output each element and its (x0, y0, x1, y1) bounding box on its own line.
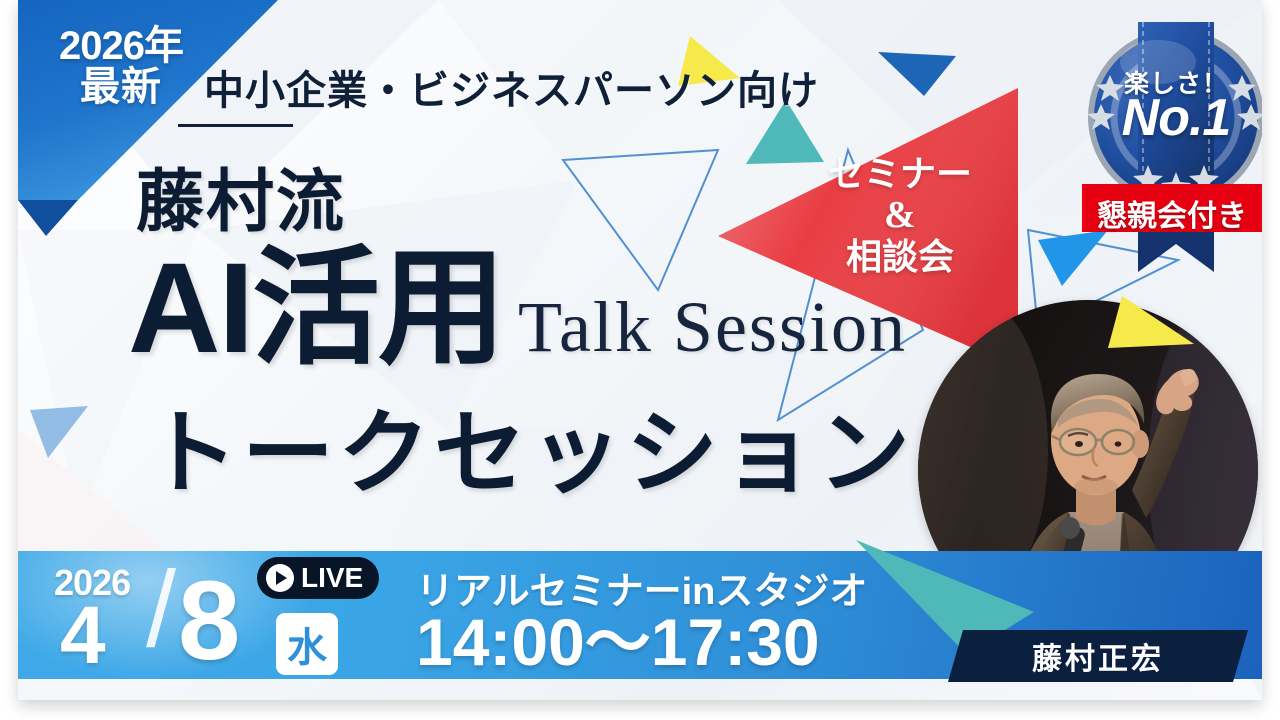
footer-day: 8 (178, 565, 240, 677)
seminar-banner: 2026年 最新 中小企業・ビジネスパーソン向け 藤村流 AI活用 Talk S… (0, 0, 1280, 720)
footer-day-of-week-box: 水 (276, 613, 338, 675)
seminar-line1: セミナー (810, 154, 990, 194)
speaker-nameplate: 藤村正宏 (948, 630, 1248, 682)
seminar-line2: & (810, 194, 990, 237)
live-label: LIVE (301, 562, 363, 594)
footer-month: 4 (60, 595, 106, 677)
footer-day-of-week: 水 (287, 615, 327, 673)
speaker-name: 藤村正宏 (1032, 634, 1164, 678)
corner-ribbon: 2026年 最新 (18, 0, 318, 250)
blue-triangle-left-mid (30, 406, 90, 460)
seminar-line3: 相談会 (810, 237, 990, 277)
headline-japanese: トークセッション (146, 408, 914, 500)
corner-ribbon-line2: 最新 (36, 67, 206, 108)
corner-ribbon-line1: 2026年 (36, 26, 206, 67)
headline-main: AI活用 (128, 245, 504, 373)
medal-rank: No.1 (1098, 92, 1254, 144)
seminar-triangle-text: セミナー & 相談会 (810, 154, 990, 277)
no1-medal-badge: 楽しさ！ No.1 懇親会付き (1076, 22, 1262, 274)
medal-ribbon-label: 懇親会付き (1083, 191, 1261, 235)
play-icon (266, 564, 294, 592)
footer-time: 14:00〜17:30 (416, 609, 820, 675)
corner-ribbon-label: 2026年 最新 (36, 26, 206, 108)
medal-ribbon-band: 懇親会付き (1082, 184, 1262, 232)
yellow-triangle-right (1108, 296, 1198, 358)
live-badge: LIVE (257, 557, 379, 599)
footer-slash: / (146, 555, 176, 663)
